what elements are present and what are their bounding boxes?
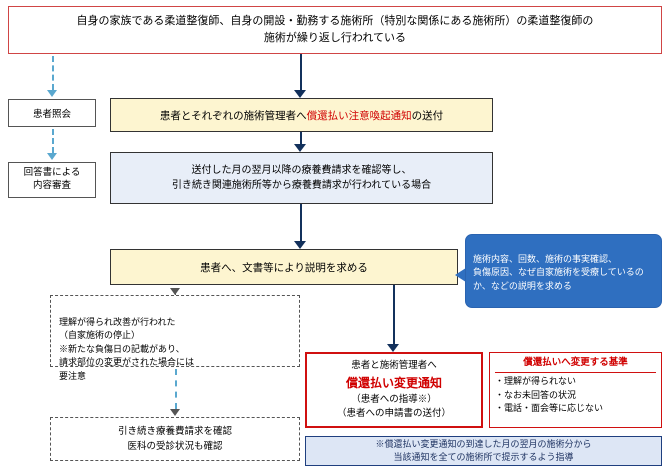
- change-criteria-item-2: ・電話・面会等に応じない: [495, 402, 656, 416]
- notice-text-post: の送付: [412, 108, 444, 123]
- connector-notice-to-confirm: [300, 132, 302, 144]
- connector-header-to-notice: [300, 54, 302, 90]
- arrow-explain-to-understanding: [170, 288, 180, 295]
- change-criteria-box: 償還払いへ変更する基準 ・理解が得られない ・なお未回答の状況 ・電話・面会等に…: [489, 352, 662, 428]
- patient-inquiry-label: 患者照会: [33, 106, 71, 120]
- explanation-details-text: 施術内容、回数、施術の事実確認、 負傷原因、なぜ自家施術を受療しているのか、など…: [473, 254, 644, 291]
- notice-text-accent: 償還払い注意喚起通知: [307, 108, 412, 123]
- connector-confirm-to-explain: [300, 204, 302, 241]
- followup-claim-confirmation-text: 送付した月の翌月以降の療養費請求を確認等し、 引き続き関連施術所等から療養費請求…: [172, 163, 431, 194]
- change-notice-title: 償還払い変更通知: [346, 374, 442, 392]
- arrow-notice-to-confirm: [294, 144, 306, 152]
- change-criteria-item-0: ・理解が得られない: [495, 375, 656, 389]
- change-notice-line3: （患者への指導※）: [351, 393, 437, 407]
- followup-claim-confirmation-box: 送付した月の翌月以降の療養費請求を確認等し、 引き続き関連施術所等から療養費請求…: [110, 152, 493, 204]
- arrow-header-to-notice: [294, 90, 306, 98]
- change-criteria-title: 償還払いへ変更する基準: [495, 356, 656, 373]
- explanation-details-callout: 施術内容、回数、施術の事実確認、 負傷原因、なぜ自家施術を受療しているのか、など…: [465, 234, 662, 308]
- reimbursement-change-notice-box: 患者と施術管理者へ 償還払い変更通知 （患者への指導※） （患者への申請書の送付…: [305, 352, 483, 428]
- presentation-instruction-box: ※償還払い変更通知の到達した月の翌月の施術分から 当該通知を全ての施術所で提示す…: [305, 436, 662, 466]
- arrow-header-to-inquiry: [47, 90, 57, 97]
- connector-inquiry-to-review: [52, 129, 54, 153]
- presentation-instruction-text: ※償還払い変更通知の到達した月の翌月の施術分から 当該通知を全ての施術所で提示す…: [375, 438, 591, 465]
- reimbursement-alert-notice-box: 患者とそれぞれの施術管理者へ 償還払い注意喚起通知の送付: [110, 98, 493, 132]
- notice-text-pre: 患者とそれぞれの施術管理者へ: [160, 108, 307, 123]
- answer-review-box: 回答書による 内容審査: [8, 162, 96, 198]
- understanding-achieved-text: 理解が得られ改善が行われた （自家施術の停止） ※新たな負傷日の記載があり、 請…: [59, 317, 194, 381]
- request-explanation-text: 患者へ、文書等により説明を求める: [200, 260, 368, 275]
- arrow-inquiry-to-review: [47, 153, 57, 160]
- connector-explain-to-change-notice: [393, 285, 395, 344]
- continue-claim-check-box: 引き続き療養費請求を確認 医科の受診状況も確認: [50, 417, 300, 461]
- change-criteria-item-1: ・なお未回答の状況: [495, 389, 656, 403]
- answer-review-label: 回答書による 内容審査: [24, 167, 81, 193]
- connector-header-to-inquiry: [52, 56, 54, 90]
- change-notice-line4: （患者への申請書の送付）: [337, 407, 451, 421]
- change-notice-line1: 患者と施術管理者へ: [351, 359, 437, 373]
- connector-understanding-to-continue: [175, 369, 177, 409]
- request-explanation-box: 患者へ、文書等により説明を求める: [110, 249, 458, 285]
- arrow-confirm-to-explain: [294, 241, 306, 249]
- arrow-understanding-to-continue: [170, 409, 180, 416]
- continue-claim-check-text: 引き続き療養費請求を確認 医科の受診状況も確認: [118, 424, 232, 454]
- understanding-achieved-box: 理解が得られ改善が行われた （自家施術の停止） ※新たな負傷日の記載があり、 請…: [50, 295, 300, 367]
- arrow-explain-to-change-notice: [387, 344, 399, 352]
- header-statement-box: 自身の家族である柔道整復師、自身の開設・勤務する施術所（特別な関係にある施術所）…: [8, 6, 662, 54]
- patient-inquiry-box: 患者照会: [8, 99, 96, 127]
- header-statement-text: 自身の家族である柔道整復師、自身の開設・勤務する施術所（特別な関係にある施術所）…: [77, 13, 594, 47]
